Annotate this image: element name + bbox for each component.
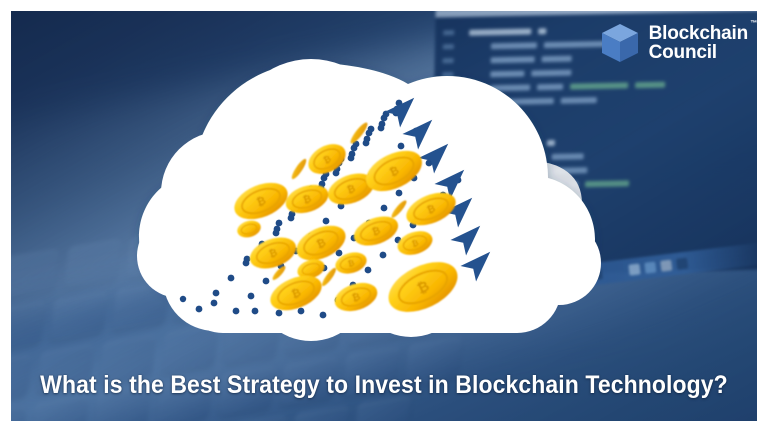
photo-blue-tint	[11, 11, 757, 421]
logo-line-2: Council	[649, 43, 748, 62]
trademark-icon: ™	[750, 20, 757, 27]
banner-root: ?	[0, 0, 768, 432]
banner-title: What is the Best Strategy to Invest in B…	[31, 371, 738, 400]
question-mark-glyph: ?	[463, 129, 594, 344]
logo-wordmark: Blockchain ™ Council	[649, 24, 748, 62]
blockchain-cube-icon	[600, 22, 640, 64]
blockchain-council-logo[interactable]: Blockchain ™ Council	[600, 22, 748, 64]
background-photo: ?	[11, 11, 757, 421]
logo-line-1: Blockchain	[649, 23, 748, 44]
